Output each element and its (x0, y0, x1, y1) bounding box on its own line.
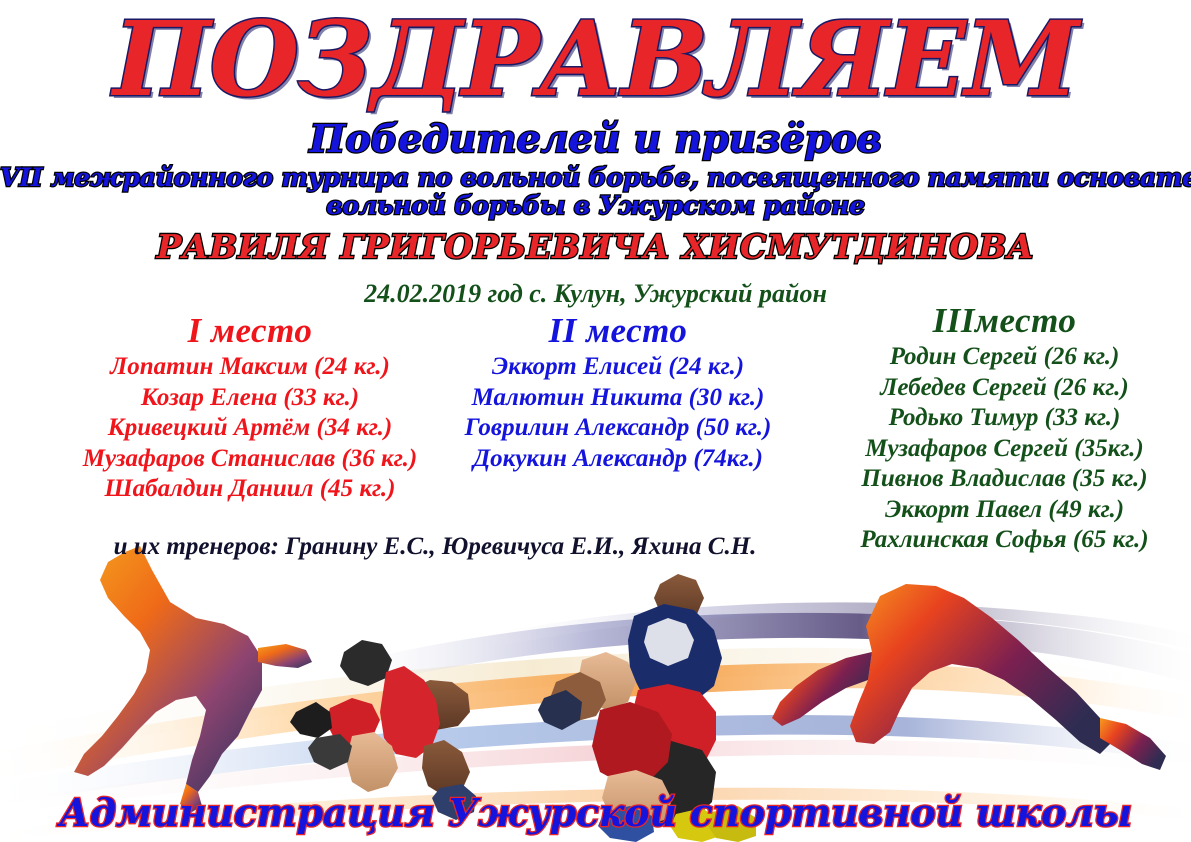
subtitle-winners-and-prizewinners: Победителей и призёров (0, 118, 1191, 160)
coaches-line: и их тренеров: Гранину Е.С., Юревичуса Е… (0, 532, 870, 562)
winner-row: Шабалдин Даниил (45 кг.) (0, 474, 500, 505)
column-header-third-place: IIIместо (818, 300, 1191, 342)
column-header-second-place: II место (368, 310, 868, 352)
footer-organization: Администрация Ужурской спортивной школы (0, 790, 1191, 836)
winner-row: Говрилин Александр (50 кг.) (368, 413, 868, 444)
subtitle-tournament-line1: VII межрайонного турнира по вольной борь… (0, 164, 1191, 192)
results-column-third-place: IIIместо Родин Сергей (26 кг.) Лебедев С… (818, 300, 1191, 556)
winner-row: Музафаров Сергей (35кг.) (818, 434, 1191, 465)
winner-row: Пивнов Владислав (35 кг.) (818, 464, 1191, 495)
page-title: ПОЗДРАВЛЯЕМ (0, 4, 1191, 116)
results-column-second-place: II место Эккорт Елисей (24 кг.) Малютин … (368, 310, 868, 474)
winner-row: Родько Тимур (33 кг.) (818, 403, 1191, 434)
winner-row: Родин Сергей (26 кг.) (818, 342, 1191, 373)
subtitle-tournament-line2: вольной борьбы в Ужурском районе (0, 192, 1191, 220)
winner-row: Докукин Александр (74кг.) (368, 444, 868, 475)
winner-row: Эккорт Павел (49 кг.) (818, 495, 1191, 526)
poster-canvas: ПОЗДРАВЛЯЕМ Победителей и призёров VII м… (0, 0, 1191, 842)
winner-row: Малютин Никита (30 кг.) (368, 383, 868, 414)
winner-row: Лебедев Сергей (26 кг.) (818, 373, 1191, 404)
winner-row: Эккорт Елисей (24 кг.) (368, 352, 868, 383)
winner-row: Рахлинская Софья (65 кг.) (818, 525, 1191, 556)
honoree-name: РАВИЛЯ ГРИГОРЬЕВИЧА ХИСМУТДИНОВА (0, 228, 1191, 266)
